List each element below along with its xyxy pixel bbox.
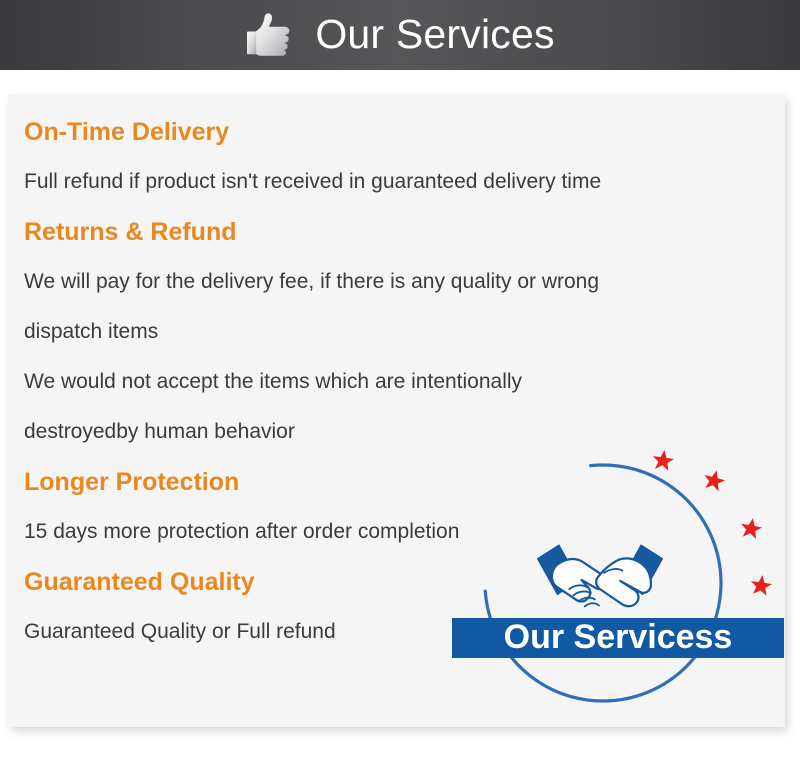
- service-heading-returns-refund: Returns & Refund: [24, 207, 784, 257]
- service-line: We will pay for the delivery fee, if the…: [24, 257, 784, 307]
- page-header: Our Services: [0, 0, 800, 70]
- service-line: destroyedby human behavior: [24, 407, 784, 457]
- services-text-list: On-Time Delivery Full refund if product …: [24, 107, 784, 657]
- service-line: Full refund if product isn't received in…: [24, 157, 784, 207]
- service-line: dispatch items: [24, 307, 784, 357]
- service-heading-longer-protection: Longer Protection: [24, 457, 784, 507]
- service-line: 15 days more protection after order comp…: [24, 507, 784, 557]
- services-card: Our Servicess On-Time Delivery Full refu…: [8, 95, 785, 727]
- service-line: We would not accept the items which are …: [24, 357, 784, 407]
- page-title: Our Services: [315, 14, 554, 55]
- thumbs-up-icon: [245, 10, 297, 58]
- header-content: Our Services: [245, 10, 554, 58]
- service-heading-guaranteed-quality: Guaranteed Quality: [24, 557, 784, 607]
- service-line: Guaranteed Quality or Full refund: [24, 607, 784, 657]
- service-heading-on-time-delivery: On-Time Delivery: [24, 107, 784, 157]
